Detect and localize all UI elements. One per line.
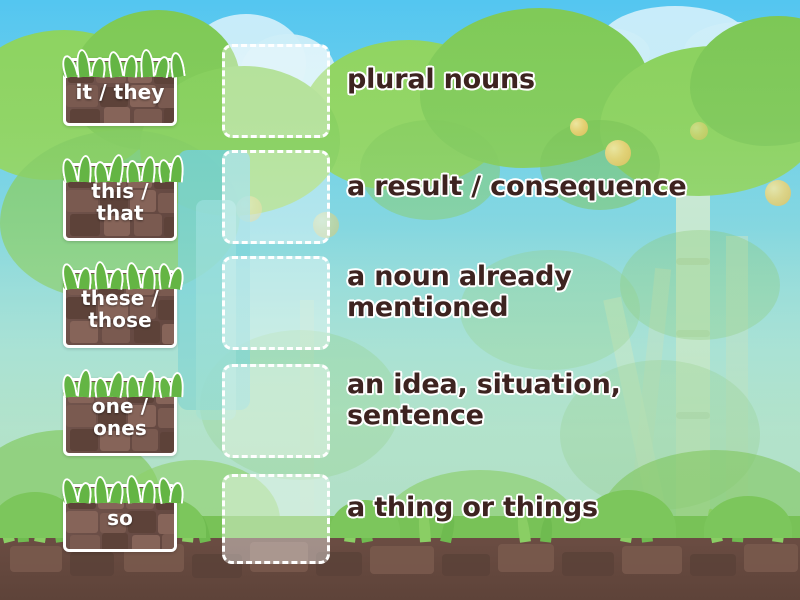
draggable-tile[interactable]: one / ones <box>63 378 177 456</box>
draggable-tile[interactable]: this / that <box>63 163 177 241</box>
tile-label: so <box>103 507 137 529</box>
definition-label: a noun already mentioned <box>347 262 572 324</box>
definition-label: an idea, situation, sentence <box>347 370 621 432</box>
definition-label: a result / consequence <box>347 172 687 203</box>
dropzone-5[interactable] <box>222 474 330 564</box>
draggable-tile[interactable]: so <box>63 484 177 552</box>
dropzone-4[interactable] <box>222 364 330 458</box>
definition-label: a thing or things <box>347 493 598 524</box>
tile-label: one / ones <box>66 395 174 440</box>
dropzone-3[interactable] <box>222 256 330 350</box>
tile-label: this / that <box>66 180 174 225</box>
draggable-tile[interactable]: it / they <box>63 58 177 126</box>
activity-stage: it / they <box>0 0 800 600</box>
tile-label: these / those <box>66 287 174 332</box>
dropzone-1[interactable] <box>222 44 330 138</box>
definition-label: plural nouns <box>347 65 535 96</box>
tile-label: it / they <box>72 81 169 103</box>
draggable-tile[interactable]: these / those <box>63 270 177 348</box>
dropzone-2[interactable] <box>222 150 330 244</box>
